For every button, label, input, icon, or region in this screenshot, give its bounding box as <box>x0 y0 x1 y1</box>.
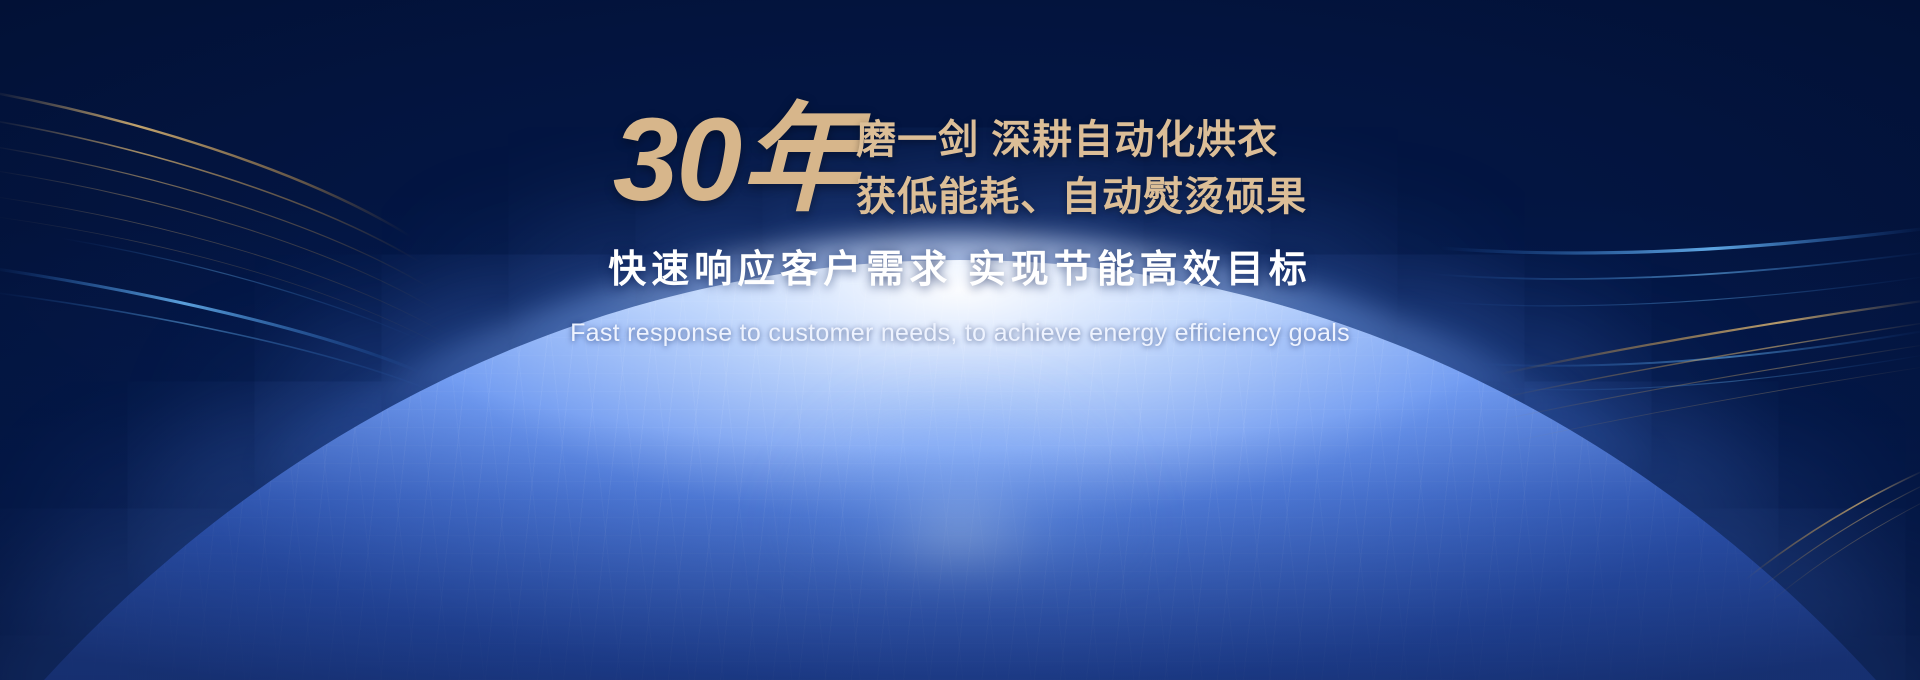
gold-slogan-block: 磨一剑 深耕自动化烘衣 获低能耗、自动熨烫硕果 <box>856 106 1307 226</box>
promo-banner: 30年 磨一剑 深耕自动化烘衣 获低能耗、自动熨烫硕果 快速响应客户需求 实现节… <box>0 0 1920 680</box>
gold-slogan-line-2: 获低能耗、自动熨烫硕果 <box>856 169 1307 226</box>
gold-slogan-line-1: 磨一剑 深耕自动化烘衣 <box>856 112 1307 169</box>
headline-row: 30年 磨一剑 深耕自动化烘衣 获低能耗、自动熨烫硕果 <box>613 106 1307 226</box>
anniversary-number-value: 30 <box>613 94 740 226</box>
banner-content: 30年 磨一剑 深耕自动化烘衣 获低能耗、自动熨烫硕果 快速响应客户需求 实现节… <box>0 106 1920 348</box>
white-slogan-line: 快速响应客户需求 实现节能高效目标 <box>608 238 1312 293</box>
english-subtitle: Fast response to customer needs, to achi… <box>570 319 1350 348</box>
anniversary-number: 30年 <box>613 106 854 215</box>
anniversary-number-unit: 年 <box>740 94 854 226</box>
